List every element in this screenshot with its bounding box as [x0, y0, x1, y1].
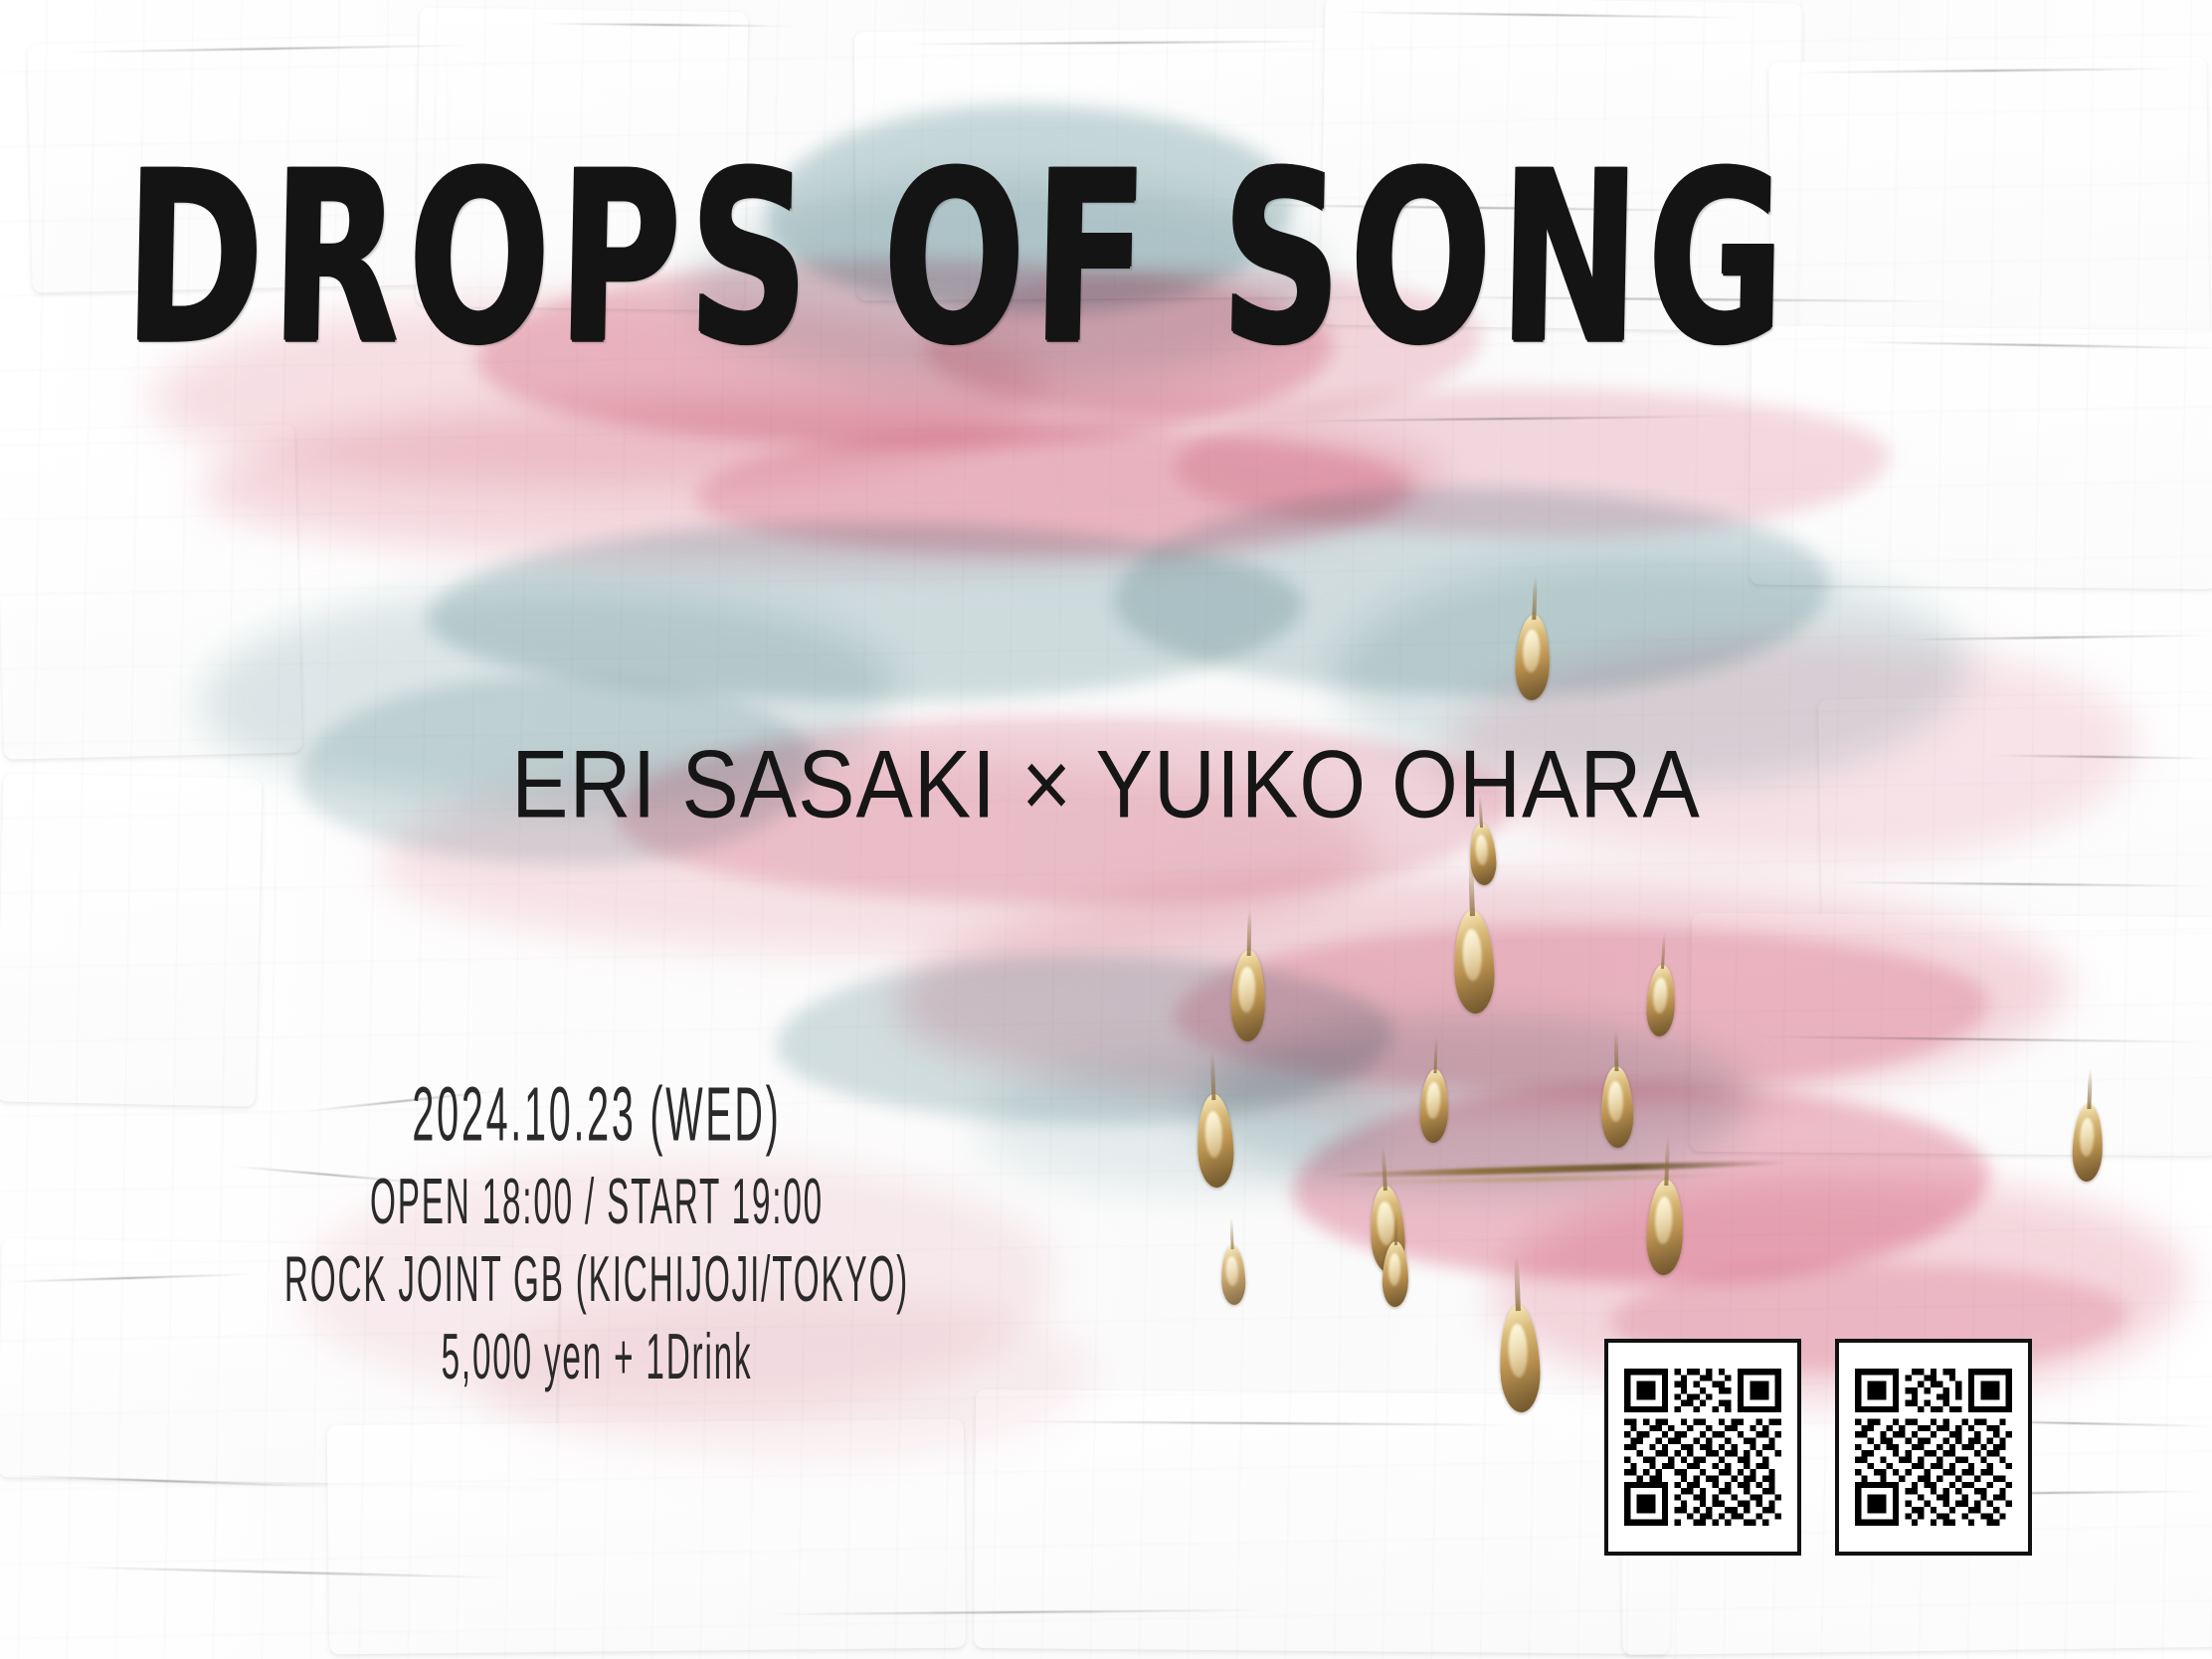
qr-code-right[interactable] — [1835, 1339, 2032, 1556]
event-times: OPEN 18:00 / START 19:00 — [203, 1166, 991, 1239]
qr-code-right-image — [1855, 1359, 2012, 1536]
qr-code-left-image — [1624, 1359, 1781, 1536]
paint-stroke-pink — [1174, 388, 1890, 537]
event-price: 5,000 yen + 1Drink — [203, 1321, 991, 1394]
poster-title: DROPS OF SONG — [122, 139, 1450, 377]
event-venue: ROCK JOINT GB (KICHIJOJI/TOKYO) — [203, 1243, 991, 1317]
event-date: 2024.10.23 (WED) — [203, 1072, 991, 1160]
qr-code-left[interactable] — [1604, 1339, 1801, 1556]
artist-lineup: ERI SASAKI × YUIKO OHARA — [0, 730, 2212, 840]
poster-canvas: DROPS OF SONG ERI SASAKI × YUIKO OHARA 2… — [0, 0, 2212, 1659]
event-details: 2024.10.23 (WED) OPEN 18:00 / START 19:0… — [159, 1072, 1034, 1363]
paint-stroke-sage — [975, 1054, 1392, 1194]
